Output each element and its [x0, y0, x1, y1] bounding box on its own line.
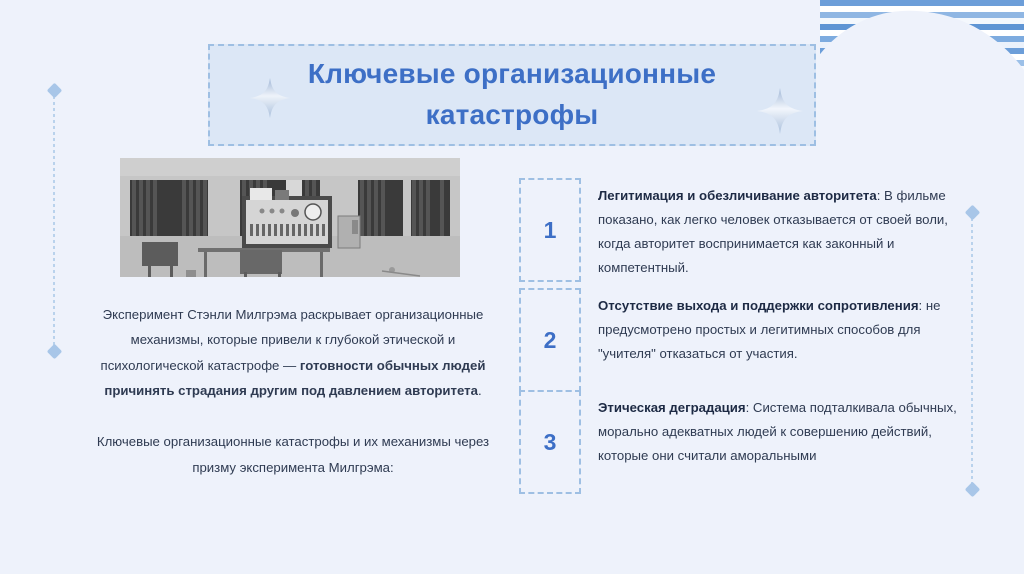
diamond-cap-icon [46, 344, 62, 360]
diamond-cap-icon [46, 83, 62, 99]
stripe-row [820, 72, 1024, 78]
list-item-text: Легитимация и обезличивание авторитета: … [581, 178, 981, 290]
stripe-row [820, 54, 1024, 60]
stripe-row [820, 0, 1024, 6]
stripe-row [820, 60, 1024, 66]
list-item-title: Отсутствие выхода и поддержки сопротивле… [598, 298, 919, 313]
stripe-row [820, 24, 1024, 30]
list-item-text: Этическая деградация: Система подталкива… [581, 390, 981, 494]
list-item-number-badge: 3 [519, 390, 581, 494]
stripe-row [820, 108, 1024, 114]
stripe-row [820, 30, 1024, 36]
stripe-row [820, 12, 1024, 18]
stripe-row [820, 66, 1024, 72]
stripe-row [820, 96, 1024, 102]
stripe-row [820, 102, 1024, 108]
list-item: 3 Этическая деградация: Система подталки… [519, 390, 981, 494]
dotted-divider-left [53, 90, 55, 352]
slide-title-banner: Ключевые организационные катастрофы [208, 44, 816, 146]
paragraph-plain-end: . [478, 383, 482, 398]
list-item-number-badge: 2 [519, 288, 581, 392]
left-description-text: Эксперимент Стэнли Милгрэма раскрывает о… [78, 302, 508, 480]
key-catastrophes-list: 1 Легитимация и обезличивание авторитета… [519, 180, 981, 494]
stripe-rows [820, 0, 1024, 120]
stripe-row [820, 36, 1024, 42]
stripe-row [820, 48, 1024, 54]
stripe-pattern-decoration [820, 0, 1024, 120]
stripe-row [820, 90, 1024, 96]
list-item-title: Легитимация и обезличивание авторитета [598, 188, 877, 203]
stripe-row [820, 84, 1024, 90]
paragraph-milgram-summary: Эксперимент Стэнли Милгрэма раскрывает о… [78, 302, 508, 403]
sparkle-icon [755, 86, 805, 136]
list-item-title: Этическая деградация [598, 400, 746, 415]
stripe-mask [820, 1, 1024, 120]
stripe-row [820, 6, 1024, 12]
list-item-text: Отсутствие выхода и поддержки сопротивле… [581, 288, 981, 392]
list-item-number-badge: 1 [519, 178, 581, 282]
stripe-row [820, 114, 1024, 120]
paragraph-lead-in: Ключевые организационные катастрофы и их… [78, 429, 508, 480]
page-title: Ключевые организационные катастрофы [277, 54, 747, 135]
stripe-row [820, 18, 1024, 24]
stripe-row [820, 78, 1024, 84]
list-item: 2 Отсутствие выхода и поддержки сопротив… [519, 288, 981, 392]
milgram-lab-photo [120, 158, 460, 277]
list-item: 1 Легитимация и обезличивание авторитета… [519, 178, 981, 290]
stripe-row [820, 42, 1024, 48]
